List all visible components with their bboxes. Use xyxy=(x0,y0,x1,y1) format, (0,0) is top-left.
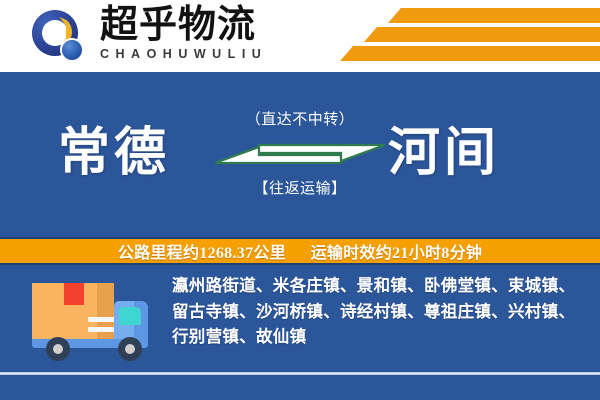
distance-label: 公路里程约1268.37公里 xyxy=(118,245,286,262)
coverage-areas-text: 瀛州路街道、米各庄镇、景和镇、卧佛堂镇、束城镇、留古寺镇、沙河桥镇、诗经村镇、尊… xyxy=(172,273,584,350)
duration-label: 运输时效约21小时8分钟 xyxy=(311,245,483,262)
coverage-section: 瀛州路街道、米各庄镇、景和镇、卧佛堂镇、束城镇、留古寺镇、沙河桥镇、诗经村镇、尊… xyxy=(0,265,600,400)
truck-cargo-line-1 xyxy=(88,317,114,322)
brand-name-cn: 超乎物流 xyxy=(100,6,267,44)
circle-moon-logo-icon xyxy=(30,8,92,64)
stripe-3 xyxy=(340,46,600,61)
route-middle-block: （直达不中转） 【往返运输】 xyxy=(215,108,385,208)
stripe-1 xyxy=(388,8,600,23)
stripe-2 xyxy=(364,27,600,42)
double-headed-arrow-icon xyxy=(215,137,385,171)
truck-cargo-line-2 xyxy=(88,327,114,332)
truck-wheel-rear xyxy=(46,337,70,361)
brand-block: 超乎物流 CHAOHUWULIU xyxy=(100,6,267,61)
brand-name-en: CHAOHUWULIU xyxy=(100,48,267,61)
round-trip-note: 【往返运输】 xyxy=(215,177,385,198)
truck-wheel-front xyxy=(118,337,142,361)
direct-route-note: （直达不中转） xyxy=(215,108,385,129)
route-info-text: 公路里程约1268.37公里 运输时效约21小时8分钟 xyxy=(118,239,482,263)
truck-window xyxy=(119,307,141,325)
logistics-route-banner: 超乎物流 CHAOHUWULIU 常德 （直达不中转） 【往返运输】 河间 xyxy=(0,0,600,400)
bottom-divider xyxy=(0,372,600,375)
route-section: 常德 （直达不中转） 【往返运输】 河间 xyxy=(0,72,600,237)
delivery-truck-icon xyxy=(26,277,166,362)
route-info-bar: 公路里程约1268.37公里 运输时效约21小时8分钟 xyxy=(0,237,600,265)
decorative-stripes xyxy=(340,6,600,66)
truck-wheel-hub-front xyxy=(125,344,135,354)
truck-wheel-hub-rear xyxy=(53,344,63,354)
destination-city-label: 河间 xyxy=(388,110,500,185)
banner-header: 超乎物流 CHAOHUWULIU xyxy=(0,0,600,72)
truck-cargo-tape xyxy=(64,283,84,305)
origin-city-label: 常德 xyxy=(58,110,170,185)
logo-dot-shape xyxy=(62,40,82,60)
